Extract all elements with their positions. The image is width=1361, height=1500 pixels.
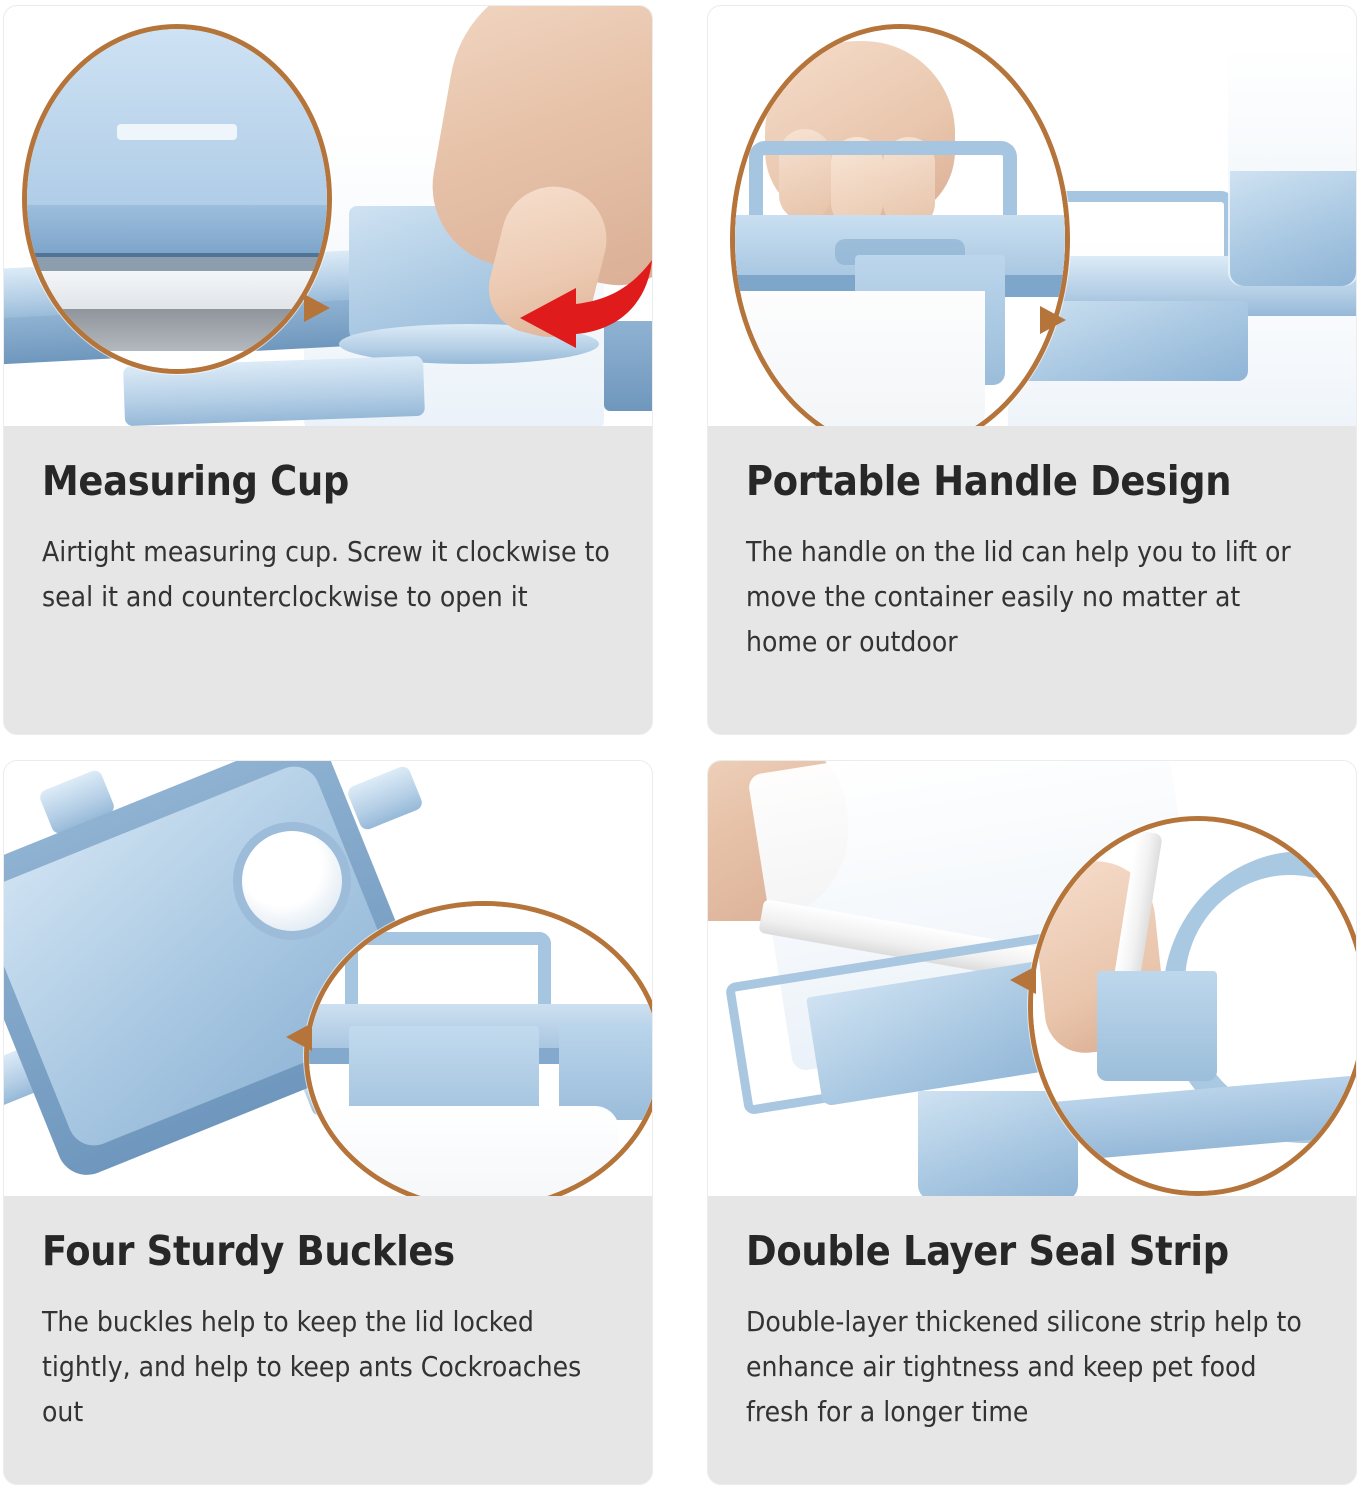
- feature-title: Portable Handle Design: [746, 460, 1318, 503]
- rotation-arrow-icon: [502, 238, 652, 358]
- callout-tail: [286, 1023, 312, 1051]
- callout-tail: [1010, 966, 1036, 994]
- feature-card-double-layer-seal-strip: Double Layer Seal Strip Double-layer thi…: [707, 760, 1357, 1485]
- magnifier-callout: [730, 24, 1070, 426]
- feature-caption: Double Layer Seal Strip Double-layer thi…: [708, 1196, 1356, 1484]
- measuring-cup-blue-section: [1230, 171, 1356, 286]
- feature-title: Double Layer Seal Strip: [746, 1230, 1318, 1273]
- feature-card-measuring-cup: Measuring Cup Airtight measuring cup. Sc…: [3, 5, 653, 735]
- magnifier-callout: [1028, 816, 1356, 1196]
- feature-title: Four Sturdy Buckles: [42, 1230, 614, 1273]
- feature-title: Measuring Cup: [42, 460, 614, 503]
- magnifier-callout: [22, 24, 332, 374]
- magnifier-callout: [304, 901, 652, 1196]
- feature-photo-double-layer-seal-strip: [708, 761, 1356, 1196]
- feature-description: Airtight measuring cup. Screw it clockwi…: [42, 529, 614, 619]
- feature-card-portable-handle: Portable Handle Design The handle on the…: [707, 5, 1357, 735]
- feature-photo-portable-handle: [708, 6, 1356, 426]
- callout-tail: [304, 294, 330, 322]
- buckle-flange: [346, 764, 424, 831]
- feature-card-four-sturdy-buckles: Four Sturdy Buckles The buckles help to …: [3, 760, 653, 1485]
- feature-photo-measuring-cup: [4, 6, 652, 426]
- feature-description: The buckles help to keep the lid locked …: [42, 1299, 614, 1434]
- feature-photo-four-sturdy-buckles: [4, 761, 652, 1196]
- feature-grid: Measuring Cup Airtight measuring cup. Sc…: [0, 0, 1361, 1500]
- feature-caption: Measuring Cup Airtight measuring cup. Sc…: [4, 426, 652, 734]
- feature-caption: Portable Handle Design The handle on the…: [708, 426, 1356, 734]
- feature-caption: Four Sturdy Buckles The buckles help to …: [4, 1196, 652, 1484]
- feature-description: The handle on the lid can help you to li…: [746, 529, 1318, 664]
- callout-tail: [1040, 306, 1066, 334]
- feature-description: Double-layer thickened silicone strip he…: [746, 1299, 1318, 1434]
